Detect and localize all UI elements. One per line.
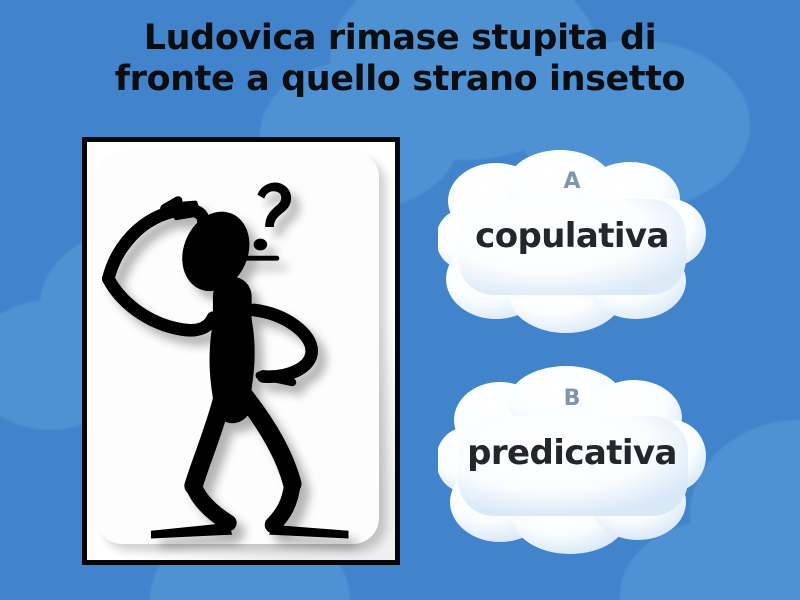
answer-a-label: copulativa [475, 219, 669, 253]
question-title: Ludovica rimase stupita di fronte a quel… [60, 18, 740, 99]
figure-right-foot [269, 525, 348, 539]
answer-b-content: B predicativa [438, 364, 706, 554]
stick-figure-illustration [87, 142, 395, 560]
answer-a-letter: A [563, 171, 580, 193]
answer-b-letter: B [564, 388, 581, 410]
figure-left-foot [151, 523, 232, 539]
question-mark-glyph [254, 182, 292, 250]
figure-right-arm [254, 310, 312, 377]
figure-left-leg [194, 398, 223, 486]
answer-option-a[interactable]: A copulativa [438, 147, 706, 337]
question-title-line-2: fronte a quello strano insetto [60, 59, 740, 100]
question-title-line-1: Ludovica rimase stupita di [60, 18, 740, 59]
answer-b-label: predicativa [467, 436, 677, 470]
answer-a-content: A copulativa [438, 147, 706, 337]
answer-option-b[interactable]: B predicativa [438, 364, 706, 554]
background-cloud [690, 420, 800, 600]
question-image-frame [82, 137, 400, 565]
figure-right-leg [246, 398, 292, 484]
question-image [87, 142, 395, 560]
